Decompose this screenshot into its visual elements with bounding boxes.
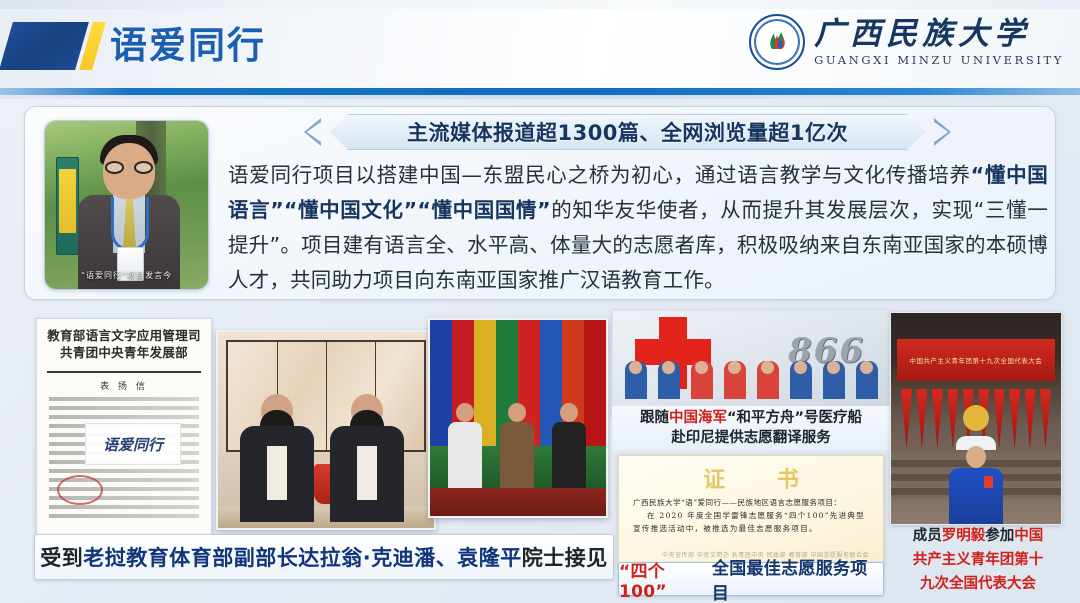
intro-paragraph: 语爱同行项目以搭建中国—东盟民心之桥为初心，通过语言教学与文化传播培养“懂中国语… [228,158,1048,298]
congress-caption-name: 罗明毅 [942,528,986,544]
certificate-caption-rest: 全国最佳志愿服务项目 [712,554,883,603]
page-header: 语爱同行 广西民族大学 GUANGXI MINZU UNIVERSITY [0,0,1080,88]
congress-caption-org1: 中国 [1014,528,1043,544]
university-name-cn: 广西民族大学 [814,17,1030,51]
ship-caption-highlight: 中国海军 [669,410,727,426]
commendation-letter-photo[interactable]: 教育部语言文字应用管理司 共青团中央青年发展部 表 扬 信 语爱同行 [36,318,212,536]
document-title: 表 扬 信 [37,379,211,392]
stage-base-shape [430,488,606,516]
meeting-caption-highlight: 老挝教育体育部副部长达拉翁·克迪潘、袁隆平 [83,542,521,572]
letterhead: 教育部语言文字应用管理司 共青团中央青年发展部 [45,327,203,361]
university-name-en: GUANGXI MINZU UNIVERSITY [814,53,1064,67]
ship-caption: 跟随中国海军“和平方舟”号医疗船 赴印尼提供志愿翻译服务 [612,406,890,450]
congress-banner: 中国共产主义青年团第十九次全国代表大会 [897,339,1055,381]
header-top-edge [0,0,1080,9]
header-divider-rule [0,88,1080,95]
header-accent-parallelogram [0,22,89,70]
meeting-caption-suffix: 院士接见 [522,542,608,572]
handwritten-note: 语爱同行 [85,423,181,465]
letterhead-rule [47,371,201,373]
ship-caption-line2: 赴印尼提供志愿翻译服务 [671,428,831,448]
congress-caption-org2: 共产主义青年团第十 [913,548,1044,572]
certificate-line1: 广西民族大学“语”爱同行——民族地区语言志愿服务项目： [633,496,869,509]
person-right [330,410,404,522]
university-seal-icon [749,14,805,70]
congress-caption-mid: 参加 [985,528,1014,544]
meeting-caption-prefix: 受到 [40,542,83,572]
glasses-icon [105,161,153,174]
crew-row [613,359,889,399]
certificate-caption: “四个100”全国最佳志愿服务项目 [618,562,884,596]
thumbnail-subtitle: “语爱同行”项目发言今 [45,270,208,281]
red-stamp-icon [57,475,103,505]
flame-emblem-icon [764,29,790,55]
certificate-title: 证 书 [619,462,883,494]
meeting-photo[interactable] [216,330,436,530]
congress-banner-text: 中国共产主义青年团第十九次全国代表大会 [910,356,1043,365]
person-lanyard-shape [111,197,149,251]
person-left [240,410,314,522]
person-a [448,403,482,488]
asean-flags-photo[interactable] [428,318,608,518]
certificate-caption-highlight: “四个100” [619,557,712,602]
paragraph-line4: 项目向东南亚国家推广汉语教育工作。 [373,268,725,292]
youth-congress-caption: 成员罗明毅参加中国 共产主义青年团第十 九次全国代表大会 [888,524,1068,600]
page-title: 语爱同行 [110,22,266,70]
congress-caption-org3: 九次全国代表大会 [920,572,1036,596]
video-thumbnail[interactable]: “语爱同行”项目发言今 [44,120,209,290]
sign-label-shape [59,169,76,233]
letterhead-line1: 教育部语言文字应用管理司 [47,328,201,343]
certificate-photo[interactable]: 证 书 广西民族大学“语”爱同行——民族地区语言志愿服务项目： 在 2020 年… [618,455,884,567]
university-branding: 广西民族大学 GUANGXI MINZU UNIVERSITY [749,14,1064,70]
ship-caption-prefix: 跟随 [640,410,669,426]
headline-ribbon: 主流媒体报道超1300篇、全网浏览量超1亿次 [330,114,925,150]
person-c [552,403,586,488]
congress-caption-prefix: 成员 [913,528,942,544]
certificate-body: 广西民族大学“语”爱同行——民族地区语言志愿服务项目： 在 2020 年度全国学… [633,496,869,535]
header-divider-rule-secondary [0,95,1080,99]
letterhead-line2: 共青团中央青年发展部 [60,345,188,360]
paragraph-line1a: 语爱同行项目以搭建中国—东盟民心之桥为初心，通过语言教学与文化传播培养 [228,163,971,187]
delegate-person-shape [949,436,1003,524]
meeting-caption: 受到老挝教育体育部副部长达拉翁·克迪潘、袁隆平院士接见 [34,534,614,580]
person-b [500,403,534,488]
youth-league-emblem-icon [963,405,989,431]
youth-congress-photo[interactable]: 中国共产主义青年团第十九次全国代表大会 [890,312,1062,525]
certificate-line2: 在 2020 年度全国学雷锋志愿服务“四个100”先进典型宣传推选活动中，被推选… [633,509,869,535]
ship-caption-suffix: “和平方舟”号医疗船 [727,410,862,426]
hospital-ship-photo[interactable]: 866 [612,310,890,416]
headline-text: 主流媒体报道超1300篇、全网浏览量超1亿次 [407,117,848,147]
